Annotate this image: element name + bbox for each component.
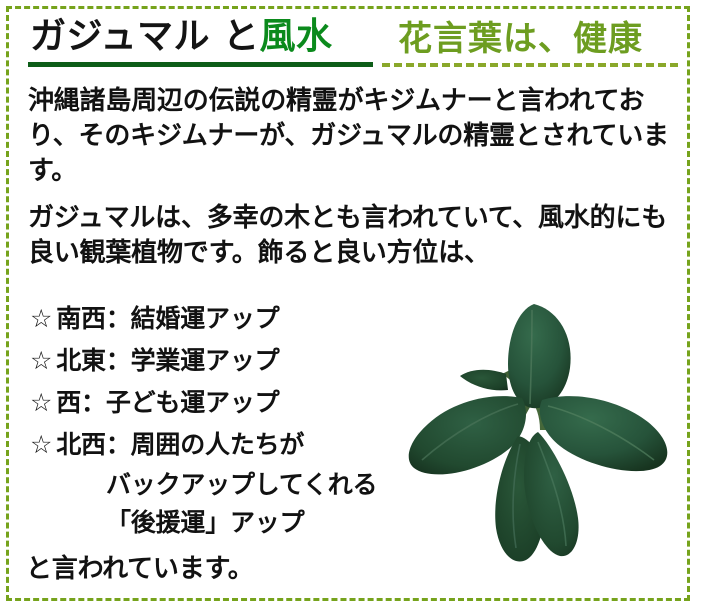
plant-leaf — [508, 304, 571, 408]
list-item-label: 南西：結婚運アップ — [56, 304, 279, 333]
page-title-accent: 風水 — [260, 16, 333, 57]
star-icon: ☆ — [30, 382, 52, 424]
list-item-label: 北東：学業運アップ — [56, 346, 279, 375]
list-item-label: 西：子ども運アップ — [56, 388, 279, 417]
paragraph-fengshui: ガジュマルは、多幸の木とも言われていて、風水的にも良い観葉植物です。飾ると良い方… — [28, 201, 684, 271]
page-title: ガジュマル と風水 — [30, 14, 333, 60]
star-icon: ☆ — [30, 424, 52, 466]
plant-leaf — [540, 396, 668, 471]
star-icon: ☆ — [30, 340, 52, 382]
star-icon: ☆ — [30, 298, 52, 340]
gajumaru-plant-photo — [398, 296, 678, 582]
closing-text: と言われています。 — [26, 552, 254, 586]
page-subtitle: 花言葉は、健康 — [398, 16, 643, 62]
plant-leaf — [460, 370, 508, 391]
list-item-label: 北西：周囲の人たちが — [56, 430, 304, 459]
page-title-prefix: ガジュマル と — [30, 16, 260, 57]
title-underline-solid — [28, 62, 373, 67]
title-underline-dashed — [382, 63, 678, 67]
paragraph-legend: 沖縄諸島周辺の伝説の精霊がキジムナーと言われており、そのキジムナーが、ガジュマル… — [28, 84, 684, 189]
infographic-page: ガジュマル と風水 花言葉は、健康 沖縄諸島周辺の伝説の精霊がキジムナーと言われ… — [0, 0, 702, 613]
